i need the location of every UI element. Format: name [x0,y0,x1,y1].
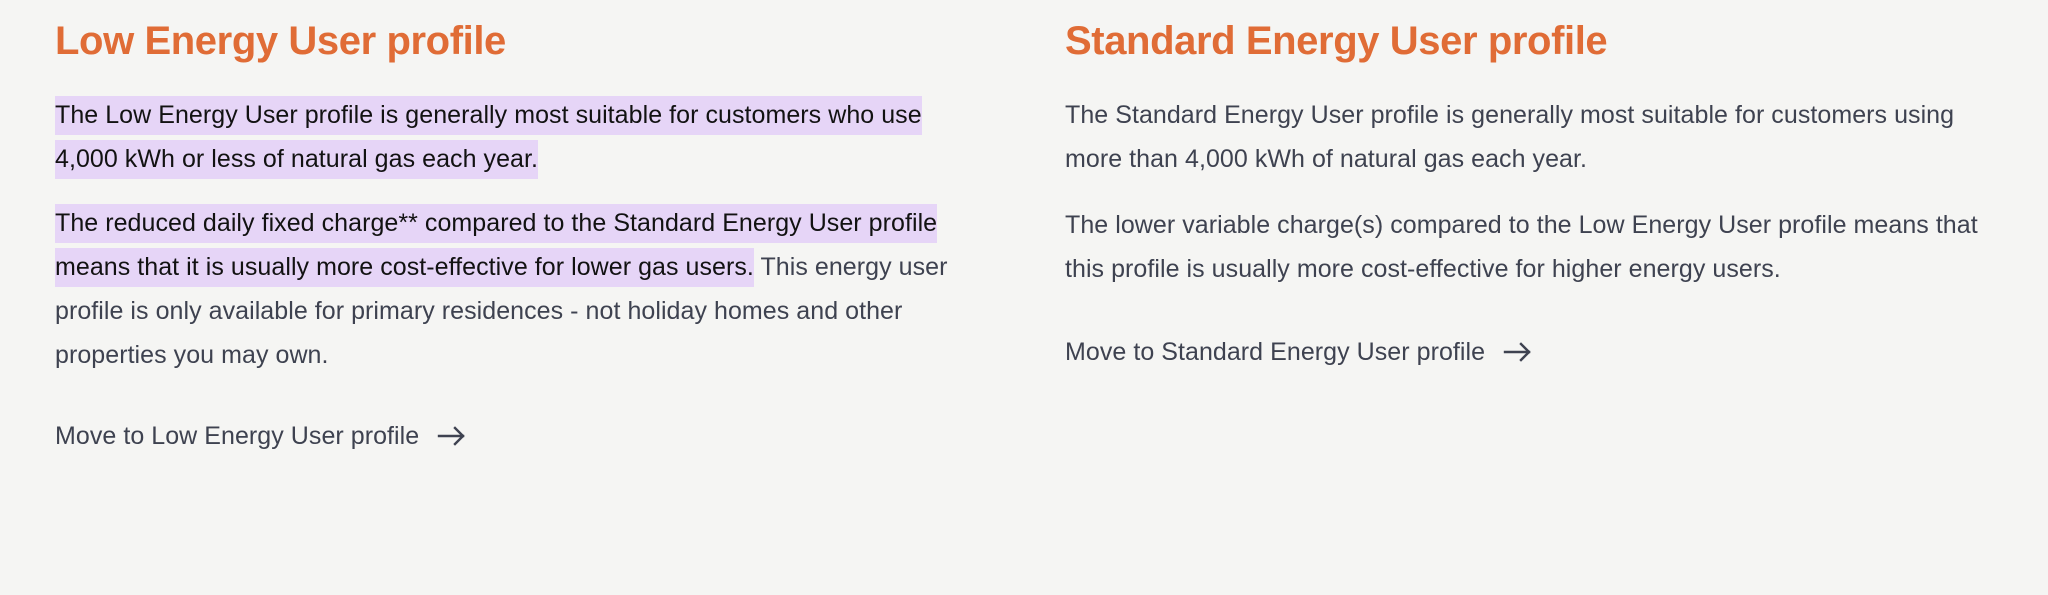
move-to-low-energy-user-profile-link[interactable]: Move to Low Energy User profile [55,421,467,451]
paragraph-standard-suitability: The Standard Energy User profile is gene… [1065,93,1988,181]
paragraph-low-fixed-charge: The reduced daily fixed charge** compare… [55,201,980,377]
page-title-low-energy: Low Energy User profile [55,18,980,65]
move-to-standard-energy-user-profile-link[interactable]: Move to Standard Energy User profile [1065,337,1533,367]
arrow-right-icon [1503,340,1533,364]
page-title-standard-energy: Standard Energy User profile [1065,18,1988,65]
move-link-label: Move to Standard Energy User profile [1065,337,1485,367]
move-link-label: Move to Low Energy User profile [55,421,419,451]
paragraph-standard-variable-charge: The lower variable charge(s) compared to… [1065,203,1988,291]
low-energy-user-profile-column: Low Energy User profile The Low Energy U… [0,0,1020,595]
energy-profiles-comparison: Low Energy User profile The Low Energy U… [0,0,2048,595]
highlighted-text: The Low Energy User profile is generally… [55,96,922,179]
plain-text: The Standard Energy User profile is gene… [1065,101,1954,173]
standard-energy-user-profile-column: Standard Energy User profile The Standar… [1020,0,2048,595]
paragraph-low-suitability: The Low Energy User profile is generally… [55,93,980,181]
plain-text: The lower variable charge(s) compared to… [1065,211,1978,283]
arrow-right-icon [437,424,467,448]
